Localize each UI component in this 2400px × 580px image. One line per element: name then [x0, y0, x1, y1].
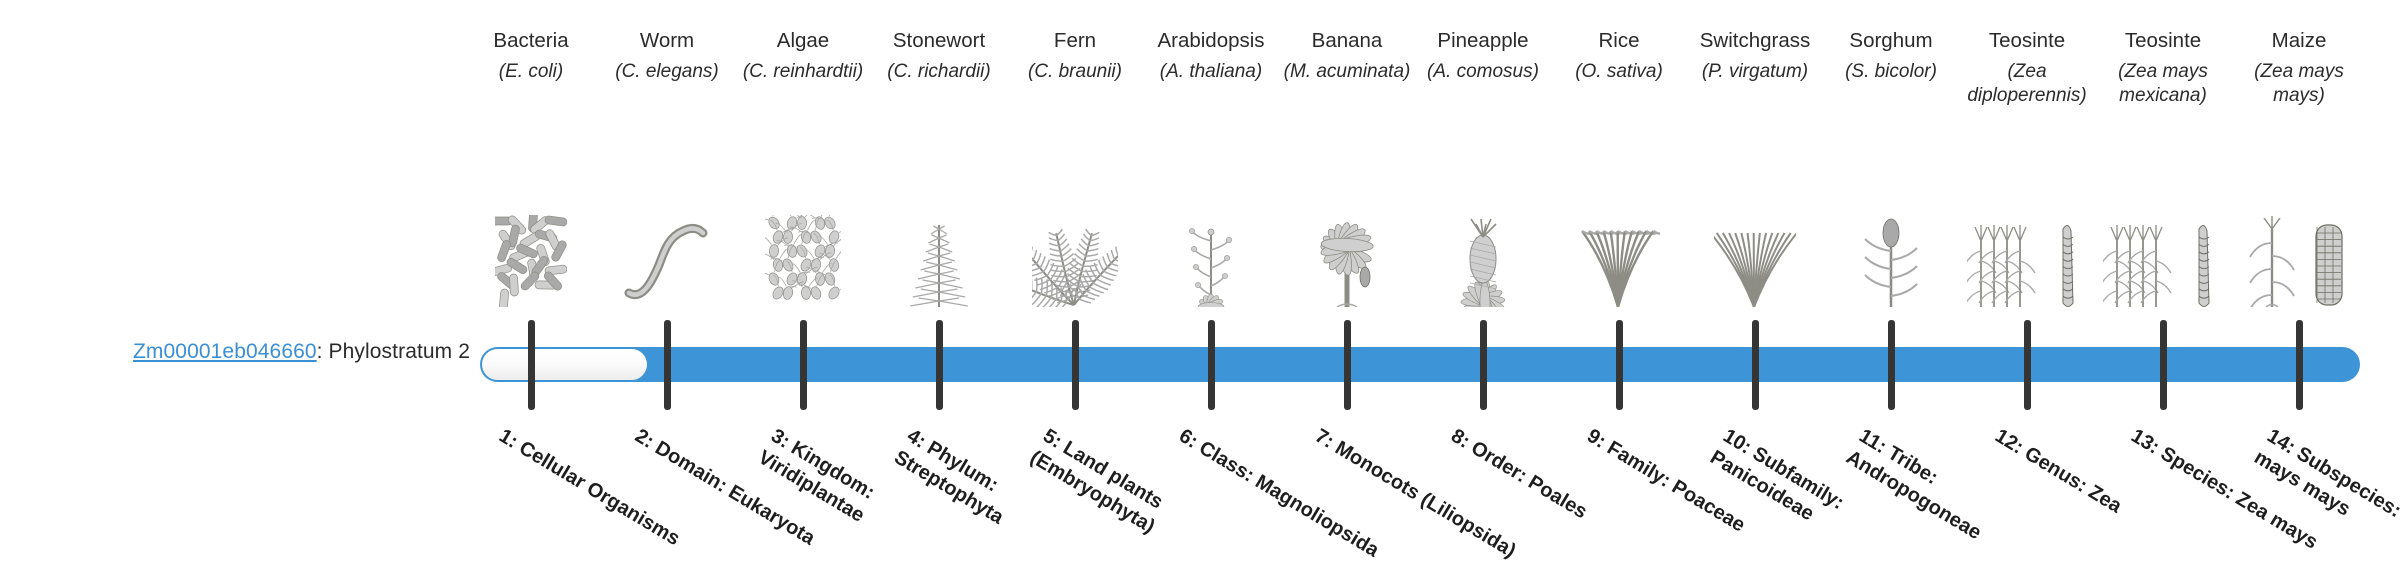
phylostratum-figure: Zm00001eb046660: Phylostratum 2 Bacteria…: [0, 0, 2400, 580]
rank-labels: 1: Cellular Organisms2: Domain: Eukaryot…: [0, 0, 2400, 580]
